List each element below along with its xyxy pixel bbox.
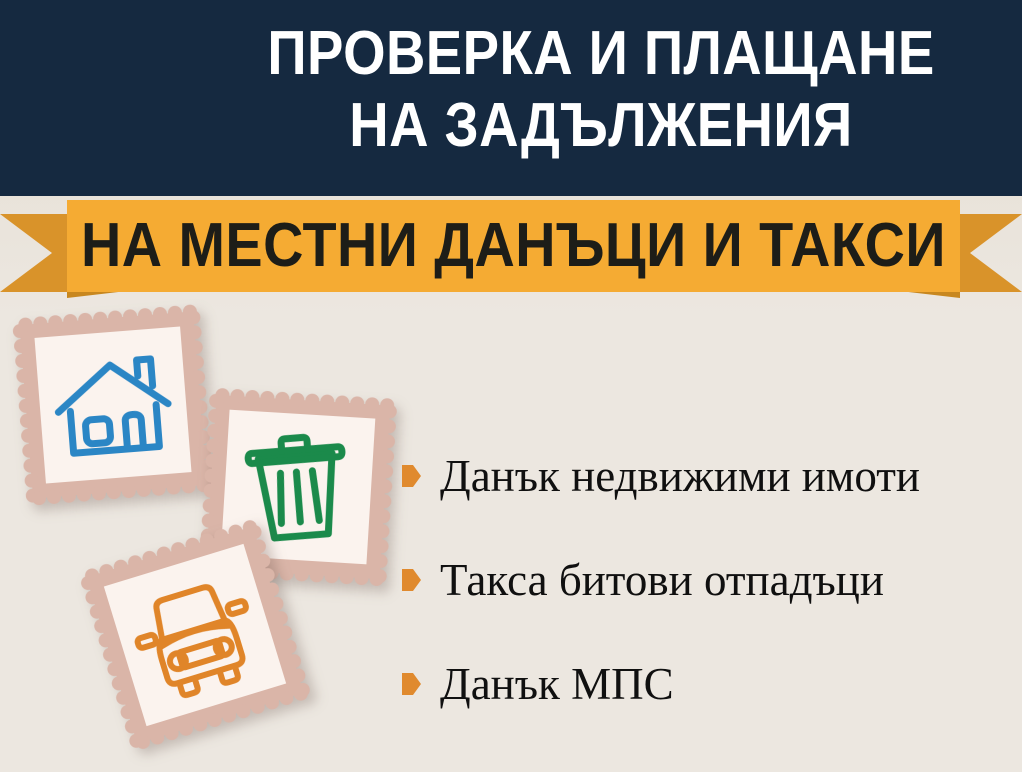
list-item-label: Данък МПС <box>440 659 674 709</box>
list-item-label: Данък недвижими имоти <box>440 451 920 501</box>
page-title: ПРОВЕРКА И ПЛАЩАНЕ НА ЗАДЪЛЖЕНИЯ <box>196 18 1006 162</box>
stamp-cards-group <box>0 300 420 772</box>
arrow-bullet-icon <box>402 465 421 487</box>
list-item[interactable]: Такса битови отпадъци <box>402 528 1016 632</box>
list-item[interactable]: Данък недвижими имоти <box>402 424 1016 528</box>
list-item-label: Такса битови отпадъци <box>440 555 884 605</box>
ribbon-text: НА МЕСТНИ ДАНЪЦИ И ТАКСИ <box>81 214 946 278</box>
subtitle-ribbon: НА МЕСТНИ ДАНЪЦИ И ТАКСИ <box>0 196 1022 308</box>
arrow-bullet-icon <box>402 569 421 591</box>
ribbon-banner: НА МЕСТНИ ДАНЪЦИ И ТАКСИ <box>67 200 960 292</box>
page-title-line-1: ПРОВЕРКА И ПЛАЩАНЕ <box>245 18 958 90</box>
poster-root: община ЕЛИН ПЕЛИН ПРОВЕРКА И П <box>0 0 1022 772</box>
arrow-bullet-icon <box>402 673 421 695</box>
list-item[interactable]: Данък МПС <box>402 632 1016 736</box>
page-title-line-2: НА ЗАДЪЛЖЕНИЯ <box>245 90 958 162</box>
stamp-card-property <box>11 303 215 507</box>
tax-types-list: Данък недвижими имоти Такса битови отпад… <box>402 424 1016 736</box>
